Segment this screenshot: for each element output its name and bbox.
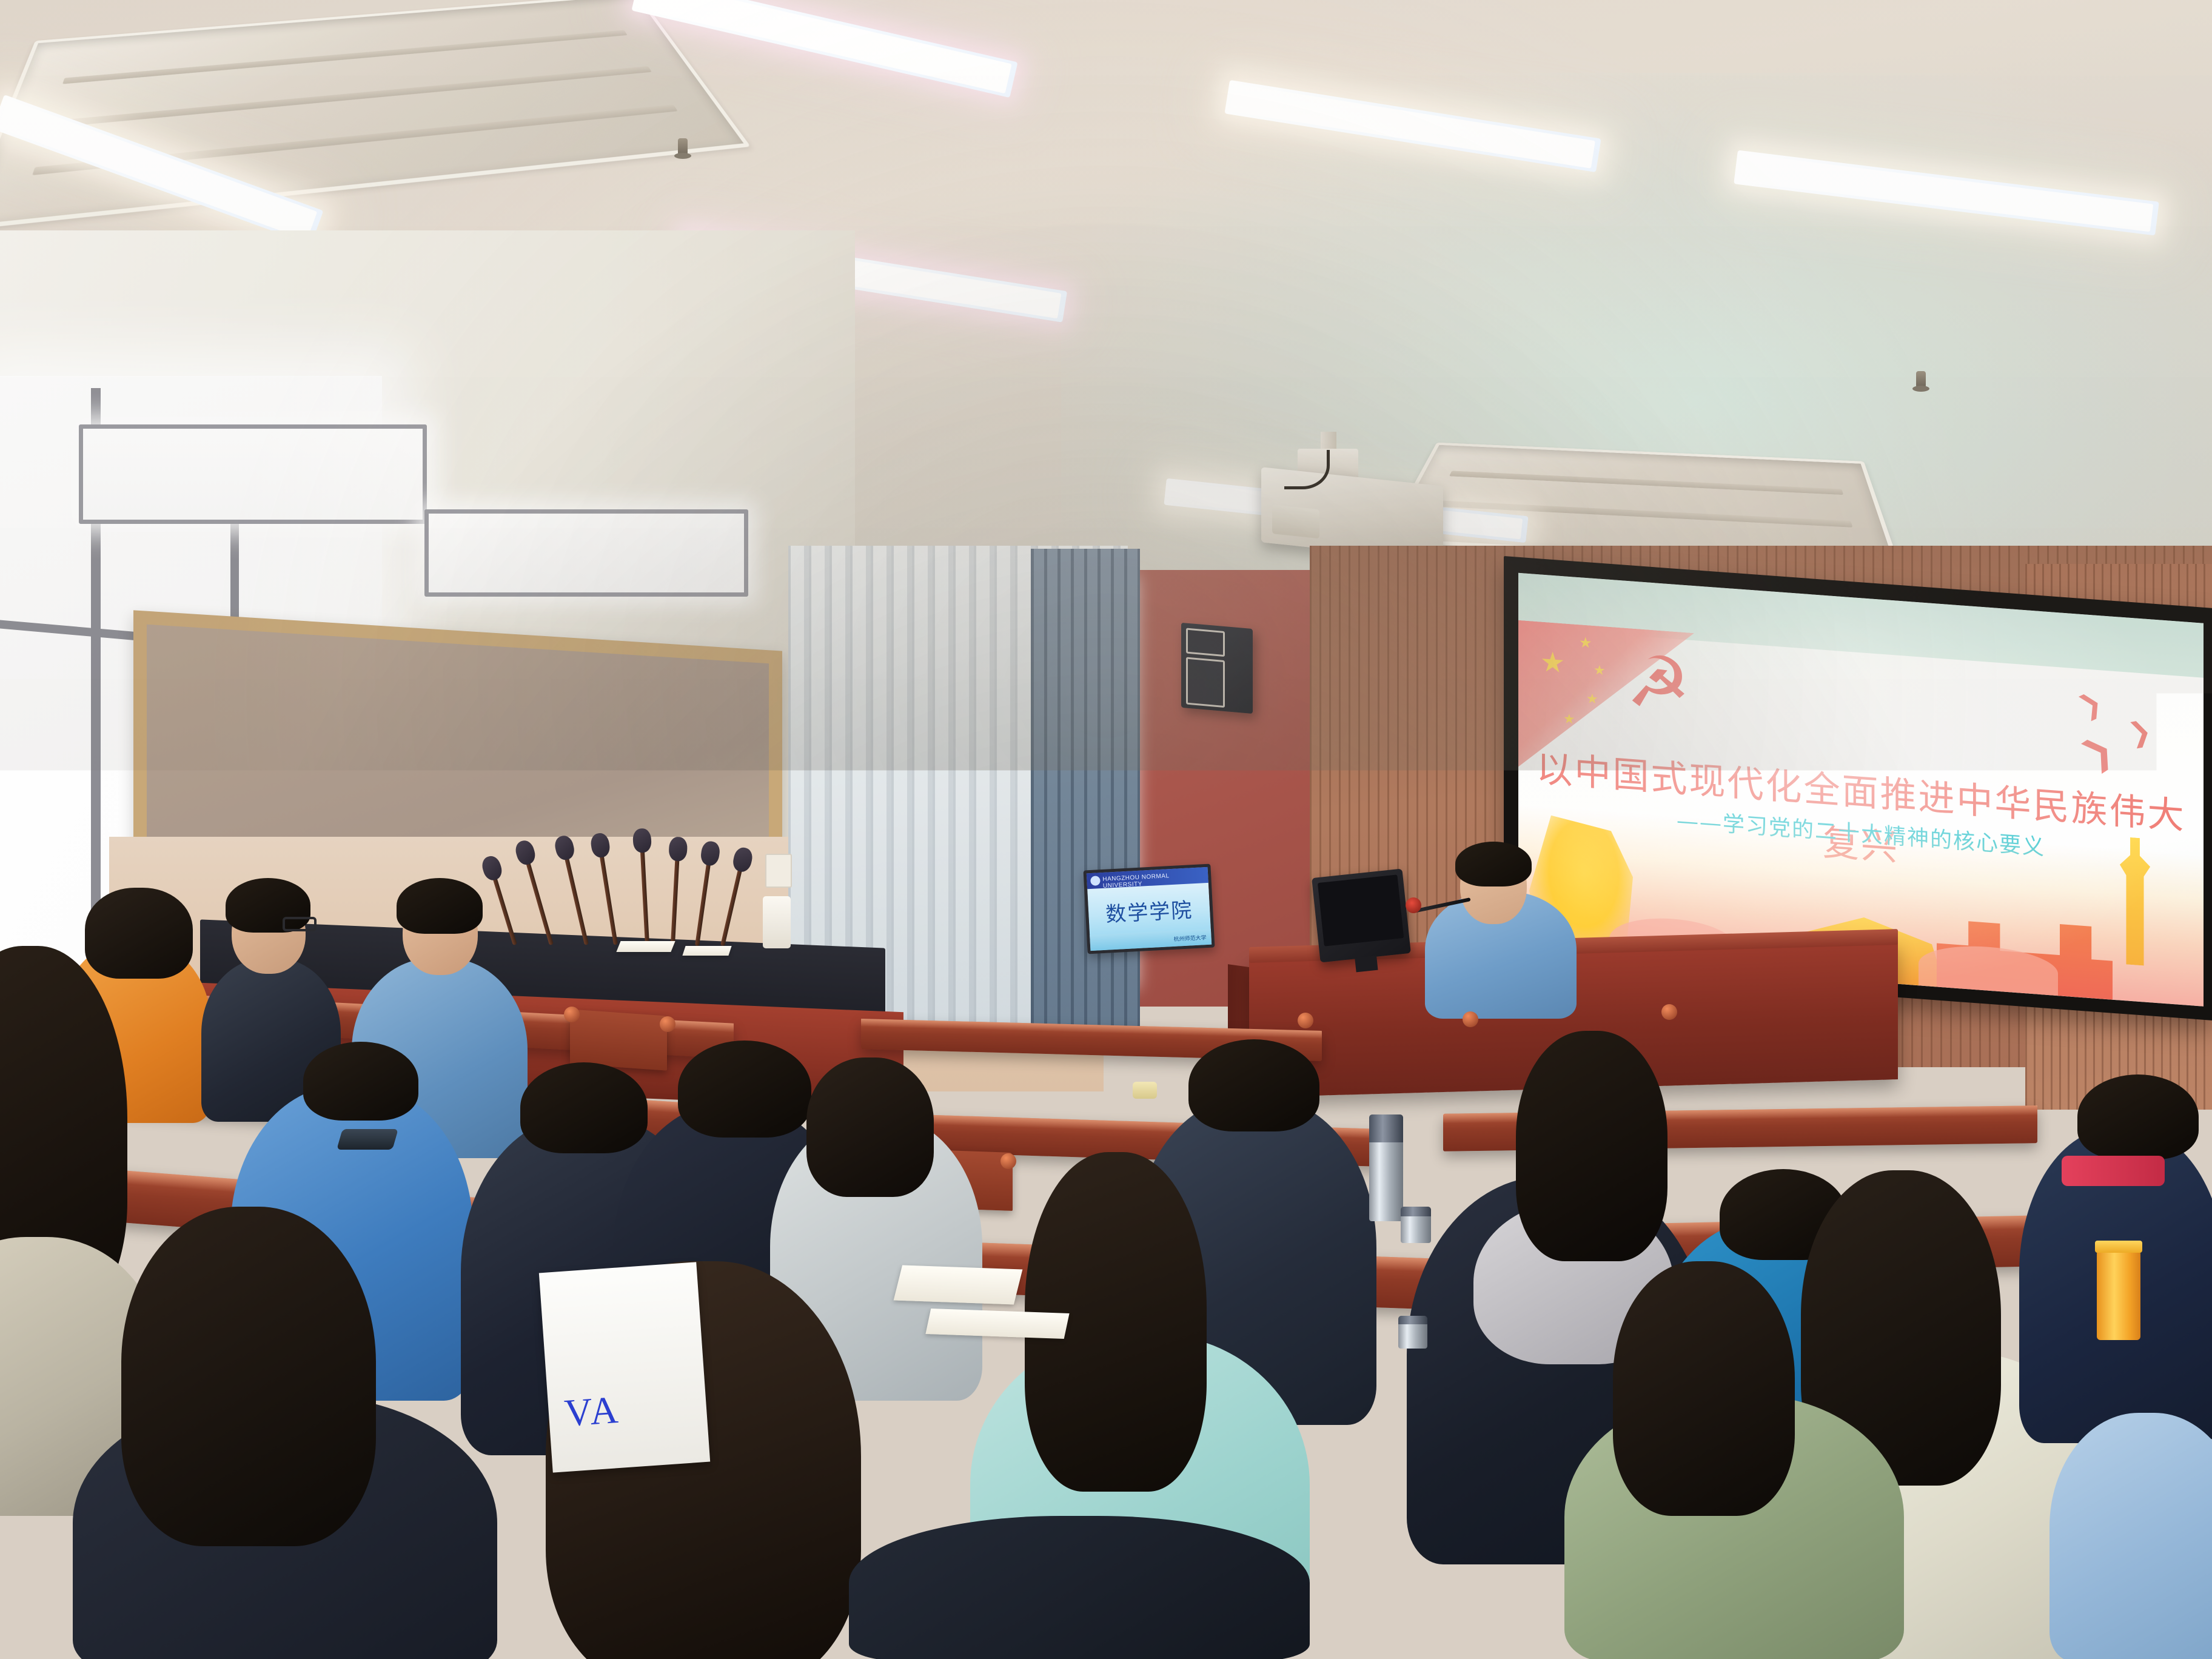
audience-hair-dark-hoodie-center bbox=[1516, 1031, 1667, 1261]
projector-lens bbox=[1272, 504, 1319, 538]
audience-person-bottom-right-dark bbox=[849, 1516, 1310, 1659]
dove-icon-2: ❯ bbox=[2126, 717, 2154, 748]
audience-hair-grey-jacket bbox=[678, 1041, 811, 1138]
audience-hair-light-coat bbox=[806, 1057, 934, 1197]
orange-water-bottle bbox=[2097, 1249, 2140, 1340]
audience-hair-blue-jacket bbox=[303, 1042, 418, 1121]
thermos-cap-2 bbox=[1401, 1207, 1431, 1216]
wall-switch-plate[interactable] bbox=[765, 854, 792, 888]
document-on-table-2 bbox=[682, 946, 731, 956]
phone-on-desk bbox=[337, 1129, 398, 1150]
window-transom-2 bbox=[424, 509, 748, 597]
hair-tie-icon bbox=[1133, 1082, 1157, 1099]
chair-knob-2 bbox=[660, 1016, 675, 1032]
white-tote-bag: VA bbox=[539, 1262, 710, 1472]
eyeglasses-icon bbox=[283, 917, 317, 931]
sprinkler-head-1 bbox=[678, 138, 688, 155]
flag-star-2: ★ bbox=[1579, 635, 1592, 651]
notebook-2 bbox=[925, 1309, 1069, 1339]
lecture-hall-photo: ★ ★ ★ ★ ★ ☭ ❯ ❯ ❯ 以中国式现代化全面推进中华民族伟大复兴 ——… bbox=[0, 0, 2212, 1659]
column-graphic bbox=[2115, 836, 2155, 967]
thermos-bottle-2 bbox=[1401, 1207, 1431, 1243]
info-display-footer-text: 杭州师范大学 bbox=[1173, 933, 1207, 943]
presenter-hair bbox=[1455, 842, 1532, 886]
thermos-bottle-3 bbox=[1398, 1316, 1427, 1349]
chair-knob-6 bbox=[1463, 1011, 1478, 1027]
dove-icon-3: ❯ bbox=[2076, 729, 2120, 774]
speaker-grill-top bbox=[1186, 628, 1225, 657]
cloud-graphic-3 bbox=[1919, 942, 2058, 996]
thermos-bottle-1 bbox=[1369, 1114, 1403, 1221]
document-on-table-1 bbox=[616, 941, 675, 952]
audience-hair-bottom-left bbox=[121, 1207, 376, 1546]
thermos-cap-3 bbox=[1398, 1316, 1427, 1324]
info-display-header: HANGZHOU NORMAL UNIVERSITY bbox=[1087, 867, 1208, 889]
flag-star-1: ★ bbox=[1540, 647, 1565, 677]
wall-dispenser-box bbox=[763, 896, 791, 948]
audience-hair-navy-blazer bbox=[1188, 1039, 1319, 1131]
info-display-header-text: HANGZHOU NORMAL UNIVERSITY bbox=[1102, 871, 1208, 890]
audience-hair-dark-hoodie-midleft bbox=[520, 1062, 648, 1153]
red-scarf bbox=[2062, 1156, 2165, 1186]
podium-monitor-screen bbox=[1318, 874, 1404, 946]
audience-person-lightblue-sleeve bbox=[2049, 1413, 2212, 1659]
orange-bottle-cap bbox=[2095, 1241, 2142, 1253]
info-display-title: 数学学院 bbox=[1088, 893, 1210, 928]
tote-bag-text: VA bbox=[563, 1387, 622, 1435]
notebook-1 bbox=[894, 1265, 1023, 1305]
podium-monitor-stand bbox=[1355, 956, 1378, 973]
chair-knob-1 bbox=[564, 1007, 580, 1022]
chair-knob-4 bbox=[1000, 1153, 1016, 1169]
university-logo-icon bbox=[1090, 876, 1101, 886]
audience-hair-navy-right bbox=[2077, 1074, 2199, 1159]
sprinkler-head-2 bbox=[1916, 371, 1926, 388]
chair-back-1 bbox=[570, 1009, 667, 1070]
window-curtain-blackout[interactable] bbox=[1031, 549, 1140, 1028]
audience-hair-olive-coat bbox=[1613, 1261, 1795, 1516]
chair-knob-7 bbox=[1661, 1004, 1677, 1020]
thermos-cap-1 bbox=[1369, 1114, 1403, 1142]
wall-speaker bbox=[1181, 623, 1253, 714]
venue-info-display: HANGZHOU NORMAL UNIVERSITY 数学学院 杭州师范大学 bbox=[1084, 864, 1215, 954]
flag-star-3: ★ bbox=[1594, 663, 1606, 677]
dove-icon-1: ❯ bbox=[2074, 688, 2106, 721]
info-display-footer: 杭州师范大学 bbox=[1090, 929, 1212, 951]
presenter-microphone-head bbox=[1406, 897, 1421, 913]
audience-hair-lightblue-shirt bbox=[397, 878, 483, 934]
audience-hair-orange-jacket bbox=[85, 888, 193, 979]
party-emblem-icon: ☭ bbox=[1626, 648, 1699, 726]
chair-knob-5 bbox=[1298, 1013, 1313, 1028]
teal-item-on-desk bbox=[195, 1190, 243, 1216]
window-transom-1 bbox=[79, 424, 427, 524]
podium-monitor bbox=[1312, 869, 1411, 963]
speaker-grill-bottom bbox=[1186, 657, 1225, 708]
flag-star-5: ★ bbox=[1563, 712, 1575, 726]
flag-star-4: ★ bbox=[1586, 692, 1598, 706]
